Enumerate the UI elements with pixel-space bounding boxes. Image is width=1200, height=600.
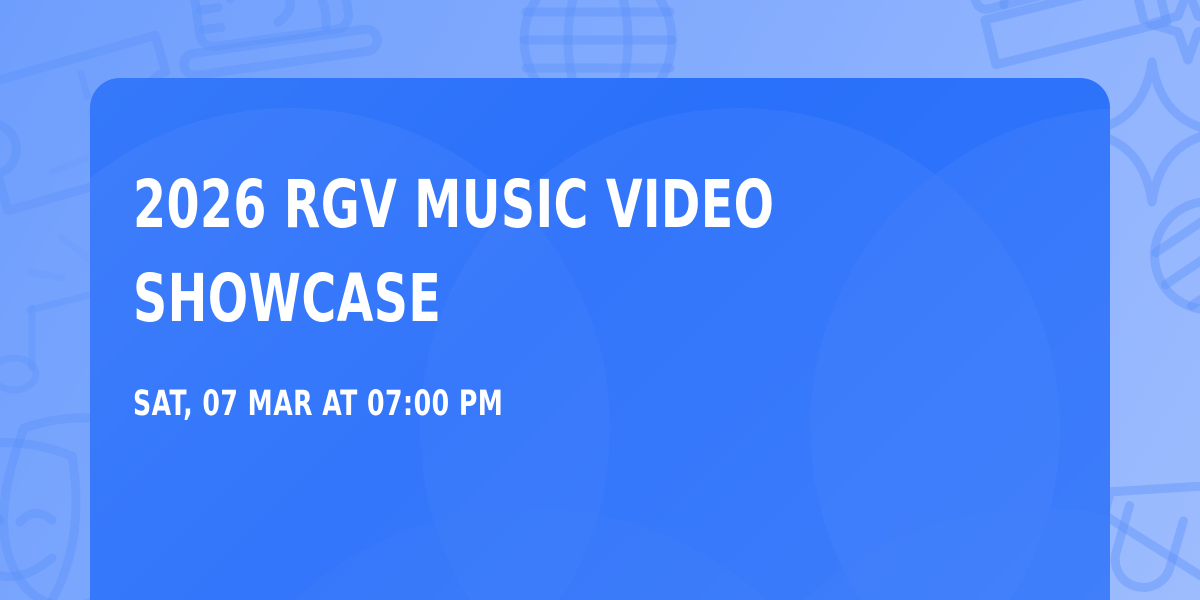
card-content: 2026 RGV Music Video Showcase Sat, 07 Ma…: [133, 158, 1050, 424]
projector-icon: [172, 0, 378, 77]
star-icon: [1150, 0, 1200, 60]
event-banner: 2026 RGV Music Video Showcase Sat, 07 Ma…: [0, 0, 1200, 600]
film-slate-icon: [967, 0, 1167, 66]
microphone-icon: [1134, 181, 1200, 374]
event-card[interactable]: 2026 RGV Music Video Showcase Sat, 07 Ma…: [90, 78, 1110, 600]
event-datetime: Sat, 07 Mar at 07:00 PM: [133, 384, 867, 424]
decorative-lines: [30, 158, 88, 278]
event-title: 2026 RGV Music Video Showcase: [133, 158, 867, 346]
